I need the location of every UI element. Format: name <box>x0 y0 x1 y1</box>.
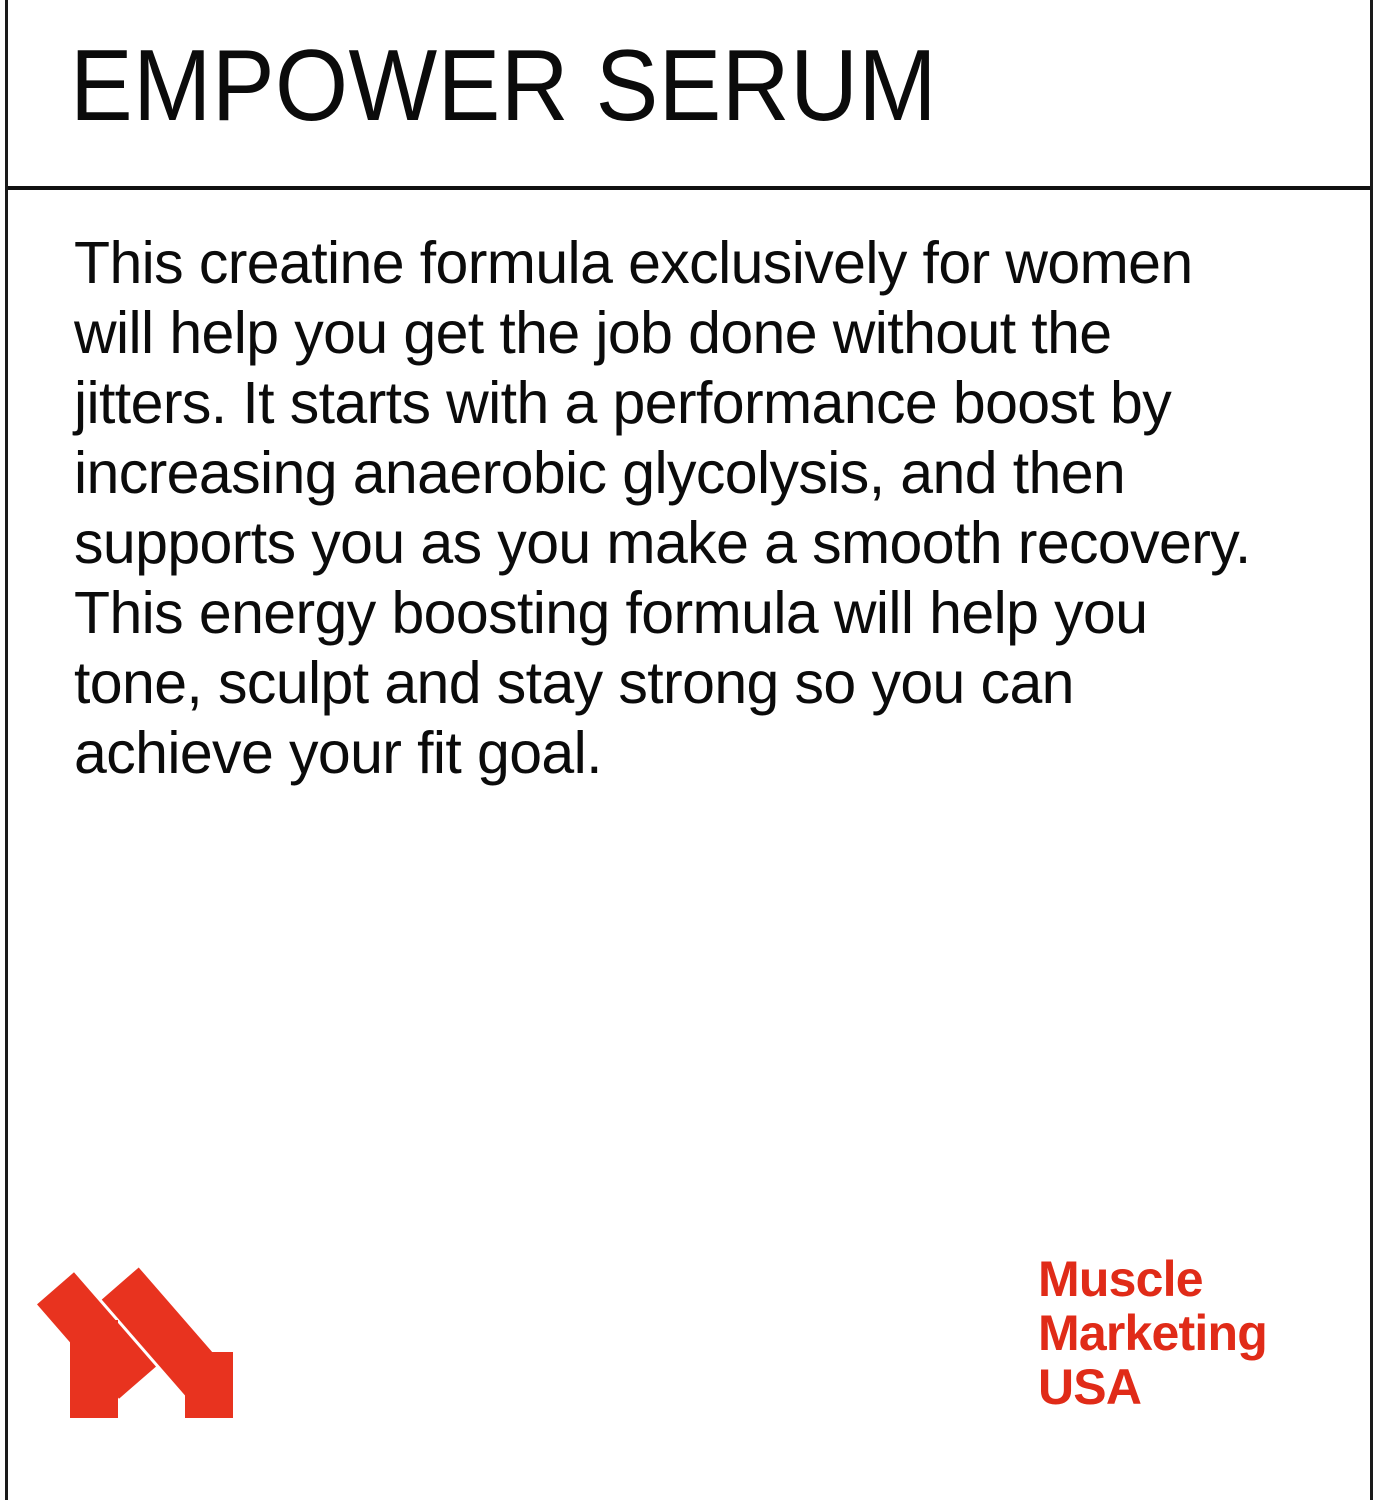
product-label-card: EMPOWER SERUM This creatine formula excl… <box>5 0 1373 1500</box>
description-line: jitters. It starts with a performance bo… <box>74 368 1334 438</box>
description-line: increasing anaerobic glycolysis, and the… <box>74 438 1334 508</box>
description-line: This energy boosting formula will help y… <box>74 578 1334 648</box>
description-line: tone, sculpt and stay strong so you can <box>74 648 1334 718</box>
brand-line-marketing: Marketing <box>1038 1306 1328 1360</box>
logo-vertical-bar-right <box>185 1352 233 1418</box>
product-description: This creatine formula exclusively for wo… <box>74 228 1334 788</box>
muscle-marketing-m-logo-icon <box>64 1254 244 1419</box>
brand-line-muscle: Muscle <box>1038 1252 1328 1306</box>
description-line: supports you as you make a smooth recove… <box>74 508 1334 578</box>
brand-line-usa: USA <box>1038 1360 1328 1414</box>
label-header: EMPOWER SERUM <box>8 0 1370 190</box>
page-title: EMPOWER SERUM <box>70 36 937 137</box>
description-line: This creatine formula exclusively for wo… <box>74 228 1334 298</box>
brand-wordmark: Muscle Marketing USA <box>1038 1252 1328 1414</box>
label-footer: Muscle Marketing USA <box>8 1240 1370 1500</box>
logo-vertical-bar-left <box>70 1320 118 1418</box>
description-line: will help you get the job done without t… <box>74 298 1334 368</box>
description-line: achieve your fit goal. <box>74 718 1334 788</box>
